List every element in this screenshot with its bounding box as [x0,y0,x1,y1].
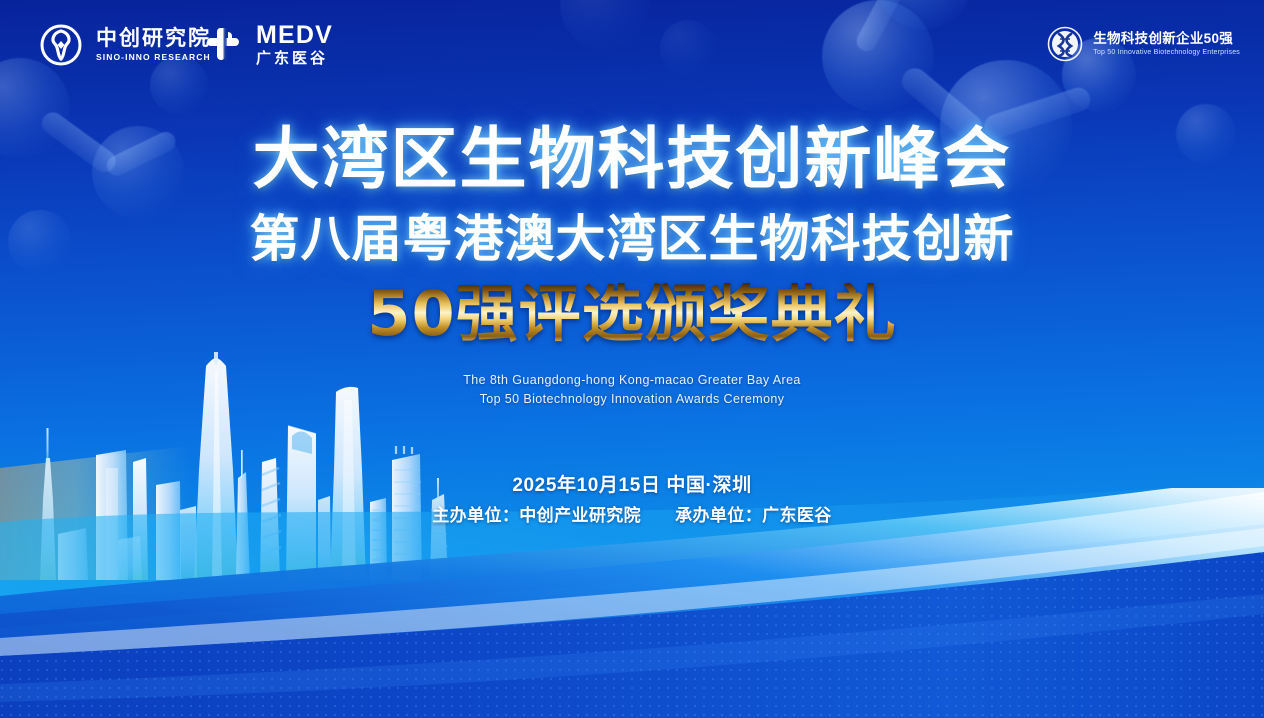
main-title-line2: 第八届粤港澳大湾区生物科技创新 [0,214,1264,264]
top50-dna-badge-icon [1047,26,1083,62]
sino-inno-logo[interactable]: 中创研究院 SINO-INNO RESEARCH [40,24,211,66]
header-logo-bar: 中创研究院 SINO-INNO RESEARCH MEDV 广东医谷 [0,0,1264,96]
top50-badge-logo[interactable]: 生物科技创新企业50强 Top 50 Innovative Biotechnol… [1047,26,1240,62]
english-subtitle: The 8th Guangdong-hong Kong-macao Greate… [0,371,1264,409]
sino-inno-circular-emblem-icon [40,24,82,66]
date-location-text: 2025年10月15日 中国·深圳 [0,470,1264,497]
organizer-name: 广东医谷 [762,506,832,525]
medv-logo-text: MEDV 广东医谷 [256,23,333,66]
english-subtitle-line2: Top 50 Biotechnology Innovation Awards C… [0,390,1264,409]
organizer-label: 承办单位： [675,506,762,525]
sino-inno-cn-name: 中创研究院 [96,28,211,49]
poster-stage: 中创研究院 SINO-INNO RESEARCH MEDV 广东医谷 [0,0,1264,718]
host-label: 主办单位： [432,506,519,525]
top50-en-name: Top 50 Innovative Biotechnology Enterpri… [1093,49,1240,56]
sino-inno-logo-text: 中创研究院 SINO-INNO RESEARCH [96,28,211,62]
sino-inno-en-name: SINO-INNO RESEARCH [96,53,211,62]
main-title-line1: 大湾区生物科技创新峰会 [0,126,1264,193]
medv-logo[interactable]: MEDV 广东医谷 [203,22,333,66]
host-name: 中创产业研究院 [519,506,641,525]
english-subtitle-line1: The 8th Guangdong-hong Kong-macao Greate… [0,371,1264,390]
top50-cn-name: 生物科技创新企业50强 [1093,32,1240,46]
medv-cn-name: 广东医谷 [256,51,333,66]
medv-brand: MEDV [256,23,333,48]
medv-cross-icon [203,22,247,66]
gold-award-title: 50强评选颁奖典礼 [0,283,1264,345]
top50-badge-text: 生物科技创新企业50强 Top 50 Innovative Biotechnol… [1093,32,1240,57]
organizers-row: 主办单位：中创产业研究院承办单位：广东医谷 [0,501,1264,526]
